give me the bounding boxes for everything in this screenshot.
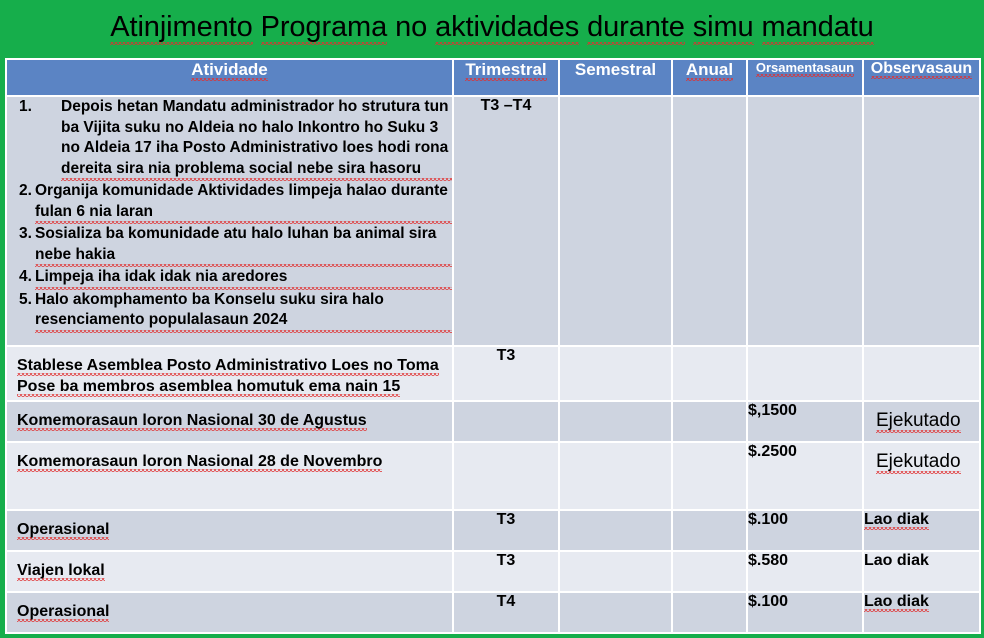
table-row: 1. Depois hetan Mandatu administrador ho… <box>6 96 980 346</box>
list-item-number: 3. <box>7 224 35 267</box>
cell-anual <box>672 592 747 633</box>
column-header-trimestral-label: Trimestral <box>465 60 546 81</box>
cell-orsamentasaun: $.580 <box>747 551 863 592</box>
cell-semestral <box>559 442 672 510</box>
status-badge: Lao diak <box>864 593 929 612</box>
column-header-observasaun: Observasaun <box>863 59 980 96</box>
list-item: 5. Halo akomphamento ba Konselu suku sir… <box>7 290 452 333</box>
table-row: Stablese Asemblea Posto Administrativo L… <box>6 346 980 401</box>
title-sep-3 <box>427 11 435 43</box>
cell-observasaun <box>863 96 980 346</box>
cell-observasaun: Ejekutado <box>863 442 980 510</box>
cell-activity: Operasional <box>6 510 453 551</box>
cell-activity: Operasional <box>6 592 453 633</box>
table-row: Operasional T4 $.100 Lao diak <box>6 592 980 633</box>
title-word-7: mandatu <box>762 11 874 45</box>
list-item-number: 1. <box>7 97 61 181</box>
cell-anual <box>672 510 747 551</box>
cell-activity: 1. Depois hetan Mandatu administrador ho… <box>6 96 453 346</box>
status-badge: Lao diak <box>864 552 929 569</box>
title-sep-4 <box>579 11 587 43</box>
cell-activity: Komemorasaun loron Nasional 28 de Novemb… <box>6 442 453 510</box>
cell-trimestral: T3 <box>453 346 559 401</box>
cell-trimestral: T3 <box>453 551 559 592</box>
cell-orsamentasaun: $,1500 <box>747 401 863 442</box>
title-word-4: aktividades <box>435 11 579 45</box>
cell-observasaun: Ejekutado <box>863 401 980 442</box>
column-header-semestral-label: Semestral <box>575 60 656 79</box>
title-word-1: Atinjimento <box>110 11 252 45</box>
list-item-label: Organija komunidade Aktividades limpeja … <box>35 181 452 224</box>
page-title: Atinjimento Programa no aktividades dura… <box>110 10 873 44</box>
title-sep-1 <box>253 11 261 43</box>
table-row: Komemorasaun loron Nasional 30 de Agustu… <box>6 401 980 442</box>
list-item-label: Depois hetan Mandatu administrador ho st… <box>61 97 452 181</box>
list-item-label: Halo akomphamento ba Konselu suku sira h… <box>35 290 452 333</box>
title-word-2: Programa <box>261 11 388 45</box>
column-header-anual-label: Anual <box>686 60 733 81</box>
list-item-number: 4. <box>7 267 35 290</box>
table-row: Komemorasaun loron Nasional 28 de Novemb… <box>6 442 980 510</box>
slide-canvas: Atinjimento Programa no aktividades dura… <box>0 0 984 638</box>
slide-title-bar: Atinjimento Programa no aktividades dura… <box>0 0 984 52</box>
cell-observasaun: Lao diak <box>863 551 980 592</box>
column-header-trimestral: Trimestral <box>453 59 559 96</box>
title-sep-5 <box>685 11 693 43</box>
cell-orsamentasaun: $.100 <box>747 592 863 633</box>
cell-anual <box>672 551 747 592</box>
program-table: Atividade Trimestral Semestral Anual Ors… <box>5 58 981 634</box>
cell-observasaun <box>863 346 980 401</box>
cell-observasaun: Lao diak <box>863 592 980 633</box>
status-badge: Lao diak <box>864 511 929 530</box>
cell-semestral <box>559 346 672 401</box>
title-sep-2 <box>387 11 395 43</box>
column-header-atividade: Atividade <box>6 59 453 96</box>
list-item-label: Limpeja iha idak idak nia aredores <box>35 267 452 290</box>
cell-anual <box>672 442 747 510</box>
program-table-container: Atividade Trimestral Semestral Anual Ors… <box>5 58 979 630</box>
cell-orsamentasaun <box>747 346 863 401</box>
table-row: Viajen lokal T3 $.580 Lao diak <box>6 551 980 592</box>
cell-semestral <box>559 510 672 551</box>
cell-semestral <box>559 96 672 346</box>
cell-anual <box>672 96 747 346</box>
cell-activity-label: Komemorasaun loron Nasional 28 de Novemb… <box>17 453 382 472</box>
list-item: 2. Organija komunidade Aktividades limpe… <box>7 181 452 224</box>
table-header: Atividade Trimestral Semestral Anual Ors… <box>6 59 980 96</box>
cell-activity-label: Stablese Asemblea Posto Administrativo L… <box>17 357 439 397</box>
list-item-number: 2. <box>7 181 35 224</box>
cell-activity-label: Komemorasaun loron Nasional 30 de Agustu… <box>17 412 367 431</box>
title-sep-6 <box>754 11 762 43</box>
column-header-orsamentasaun-label: Orsamentasaun <box>756 60 854 77</box>
cell-trimestral: T4 <box>453 592 559 633</box>
cell-observasaun: Lao diak <box>863 510 980 551</box>
cell-orsamentasaun <box>747 96 863 346</box>
column-header-orsamentasaun: Orsamentasaun <box>747 59 863 96</box>
cell-orsamentasaun: $.100 <box>747 510 863 551</box>
list-item-label: Sosializa ba komunidade atu halo luhan b… <box>35 224 452 267</box>
cell-trimestral: T3 <box>453 510 559 551</box>
title-word-6: simu <box>693 11 754 45</box>
cell-activity: Komemorasaun loron Nasional 30 de Agustu… <box>6 401 453 442</box>
cell-activity-label: Operasional <box>17 521 109 540</box>
column-header-atividade-label: Atividade <box>191 60 268 81</box>
list-item: 1. Depois hetan Mandatu administrador ho… <box>7 97 452 181</box>
cell-semestral <box>559 551 672 592</box>
list-item-number: 5. <box>7 290 35 333</box>
column-header-semestral: Semestral <box>559 59 672 96</box>
cell-orsamentasaun: $.2500 <box>747 442 863 510</box>
cell-semestral <box>559 592 672 633</box>
cell-trimestral <box>453 442 559 510</box>
activity-list: 1. Depois hetan Mandatu administrador ho… <box>7 97 452 333</box>
column-header-observasaun-label: Observasaun <box>871 60 972 79</box>
cell-anual <box>672 346 747 401</box>
list-item: 3. Sosializa ba komunidade atu halo luha… <box>7 224 452 267</box>
cell-activity: Stablese Asemblea Posto Administrativo L… <box>6 346 453 401</box>
cell-trimestral: T3 –T4 <box>453 96 559 346</box>
status-badge: Ejekutado <box>876 410 961 433</box>
table-header-row: Atividade Trimestral Semestral Anual Ors… <box>6 59 980 96</box>
column-header-anual: Anual <box>672 59 747 96</box>
title-word-5: durante <box>587 11 685 45</box>
status-badge: Ejekutado <box>876 451 961 474</box>
cell-anual <box>672 401 747 442</box>
title-word-3: no <box>395 11 427 43</box>
table-body: 1. Depois hetan Mandatu administrador ho… <box>6 96 980 633</box>
cell-semestral <box>559 401 672 442</box>
table-row: Operasional T3 $.100 Lao diak <box>6 510 980 551</box>
cell-trimestral <box>453 401 559 442</box>
cell-activity-label: Viajen lokal <box>17 562 105 581</box>
list-item: 4. Limpeja iha idak idak nia aredores <box>7 267 452 290</box>
cell-activity: Viajen lokal <box>6 551 453 592</box>
cell-activity-label: Operasional <box>17 603 109 622</box>
